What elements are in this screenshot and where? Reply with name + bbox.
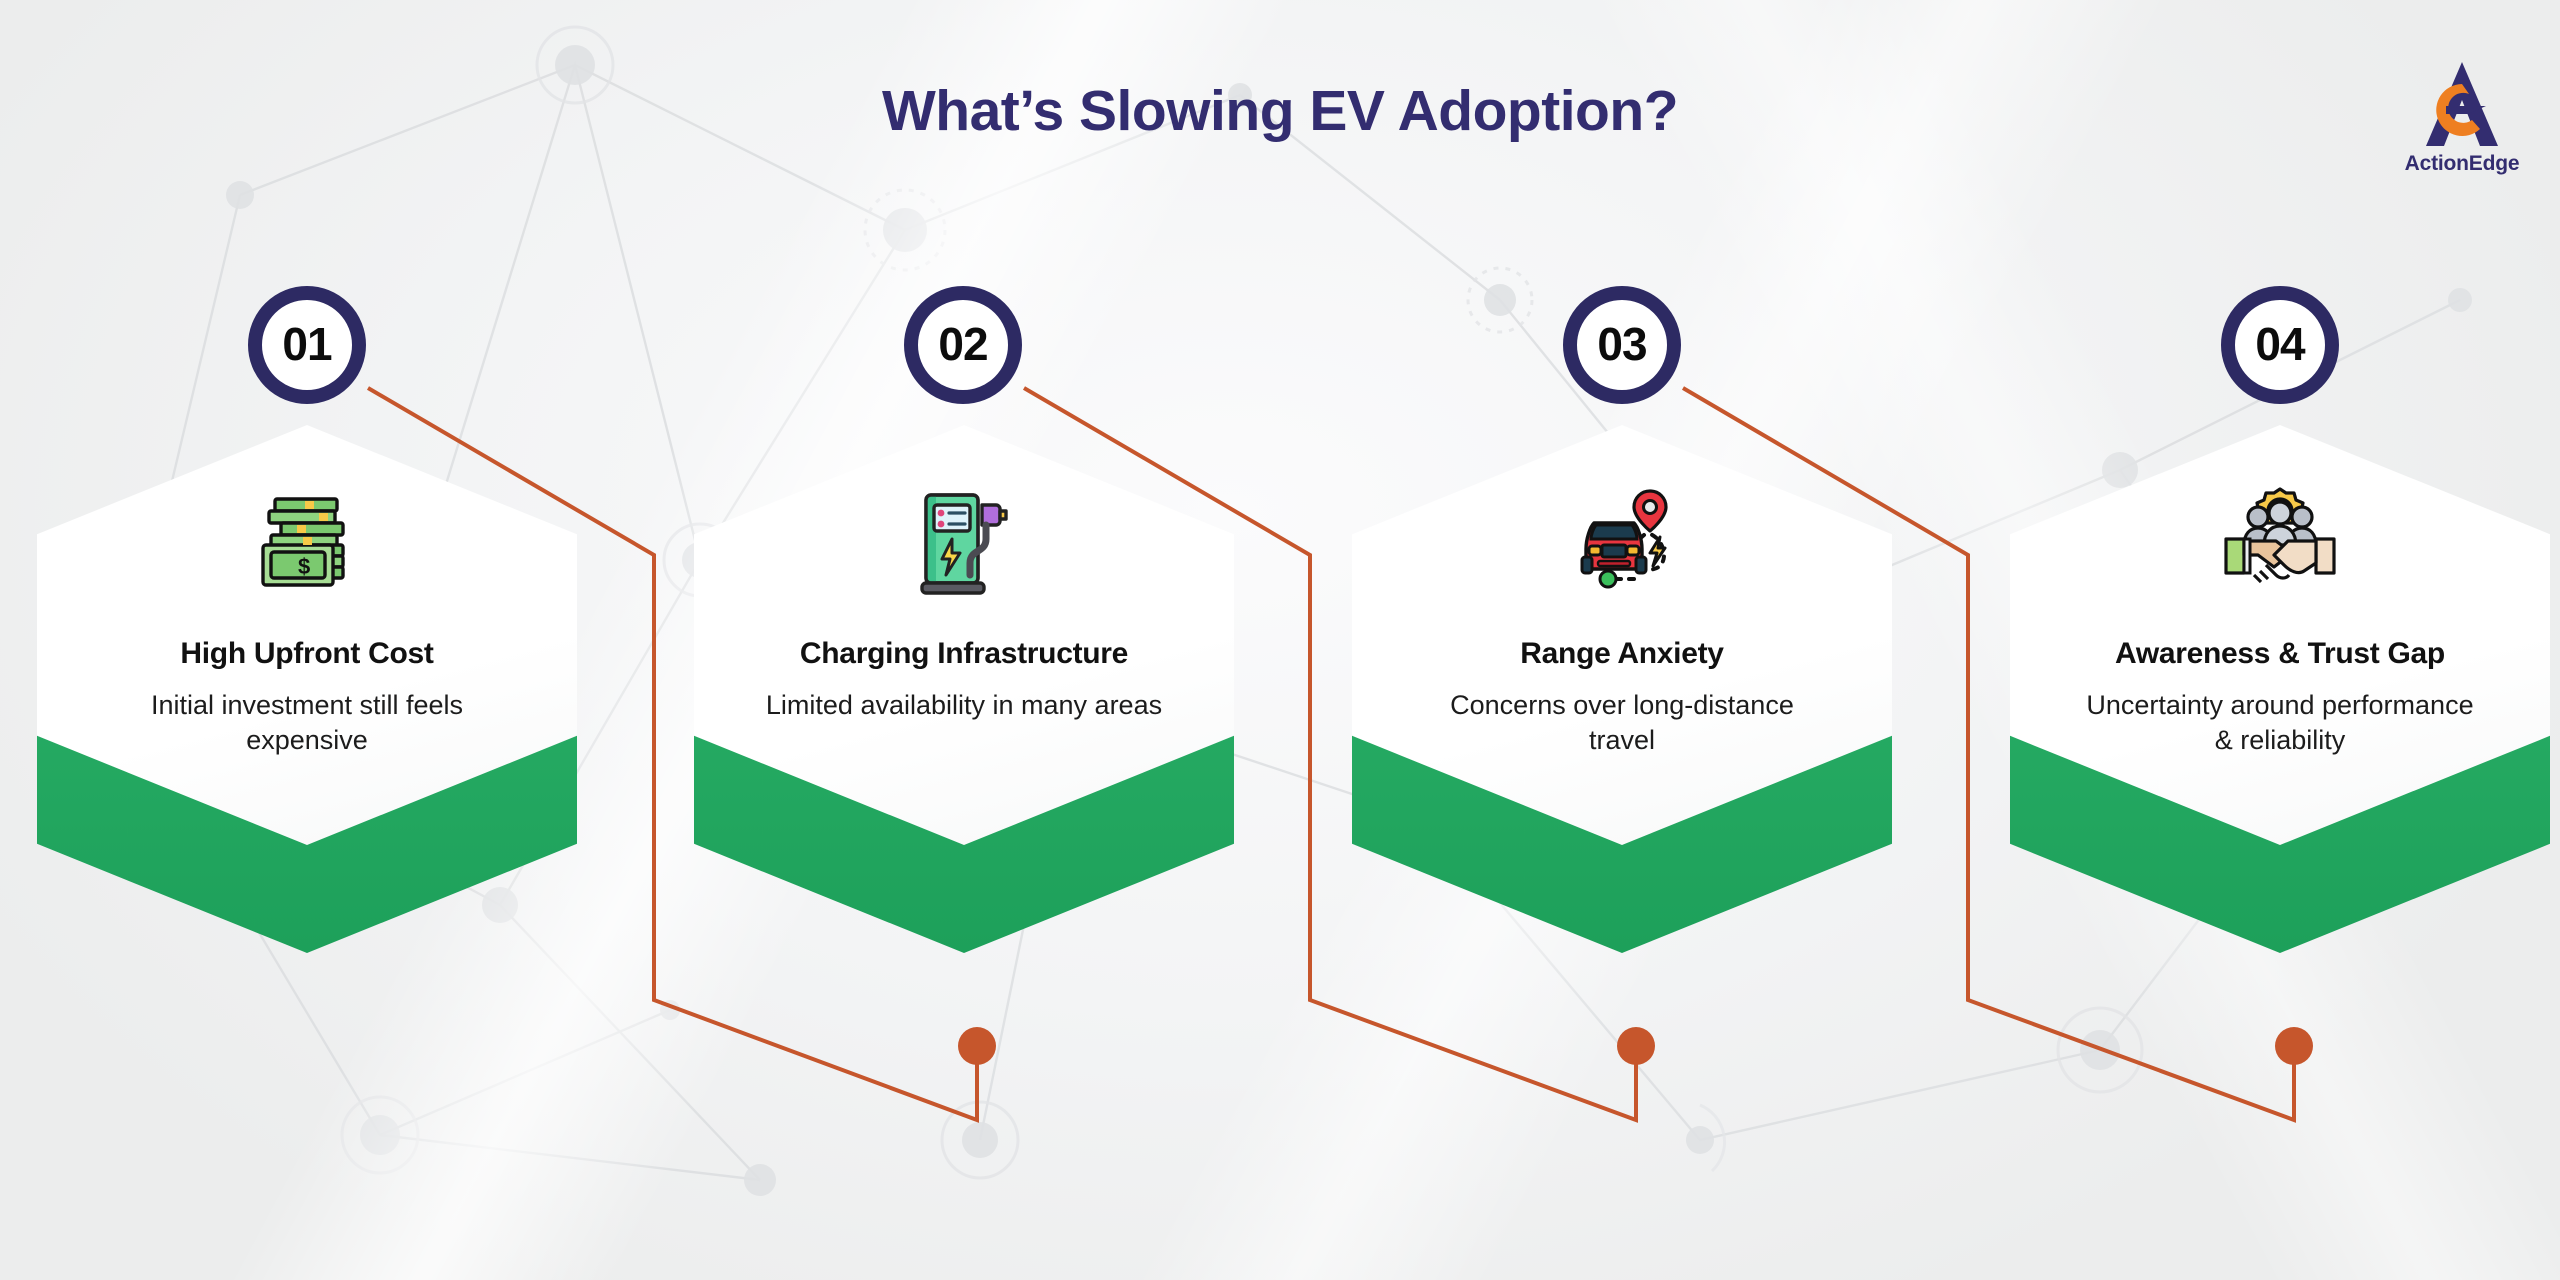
step-badge-01[interactable]: 01 [248,286,366,404]
step-card-awareness-trust-gap[interactable]: Awareness & Trust Gap Uncertainty around… [2010,425,2550,895]
handshake-team-gear-icon [2220,483,2340,603]
connector-dot-3 [2275,1027,2313,1065]
page-title: What’s Slowing EV Adoption? [0,78,2560,144]
money-stack-icon: $ [247,483,367,603]
step-card-range-anxiety[interactable]: Range Anxiety Concerns over long-distanc… [1352,425,1892,895]
card-title: High Upfront Cost [180,637,433,672]
step-number: 03 [1597,321,1646,367]
connector-dot-2 [1617,1027,1655,1065]
brand-name: ActionEdge [2396,152,2528,176]
step-badge-03[interactable]: 03 [1563,286,1681,404]
step-card-charging-infrastructure[interactable]: Charging Infrastructure Limited availabi… [694,425,1234,895]
card-title: Awareness & Trust Gap [2115,637,2445,672]
card-description: Initial investment still feels expensive [107,688,507,759]
car-route-pin-icon [1562,483,1682,603]
step-number: 04 [2255,321,2304,367]
step-card-high-upfront-cost[interactable]: $ High Upfront Cost Initial investment s… [37,425,577,895]
step-badge-04[interactable]: 04 [2221,286,2339,404]
card-description: Uncertainty around performance & reliabi… [2080,688,2480,759]
actionedge-logo-icon [2410,58,2514,150]
connector-dot-1 [958,1027,996,1065]
card-description: Limited availability in many areas [766,688,1162,724]
infographic-canvas: What’s Slowing EV Adoption? ActionEdge 0… [0,0,2560,1280]
ev-charging-station-icon [904,483,1024,603]
card-title: Range Anxiety [1520,637,1723,672]
step-number: 01 [282,321,331,367]
svg-text:$: $ [298,554,310,579]
card-description: Concerns over long-distance travel [1422,688,1822,759]
brand-logo: ActionEdge [2396,58,2528,180]
card-title: Charging Infrastructure [800,637,1128,672]
step-badge-02[interactable]: 02 [904,286,1022,404]
step-number: 02 [938,321,987,367]
